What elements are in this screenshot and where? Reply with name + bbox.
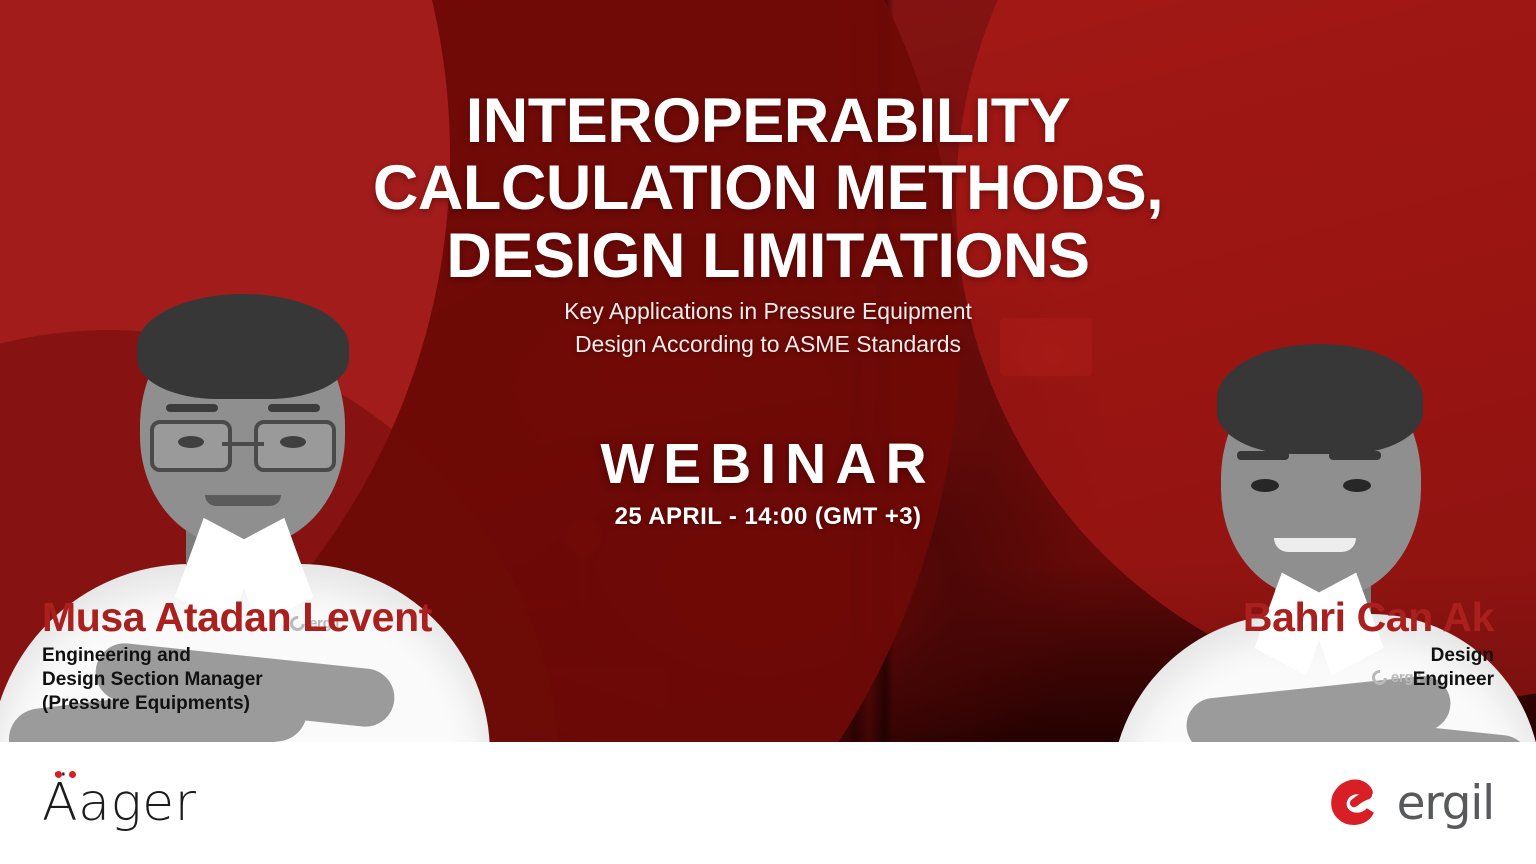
title-line-2: CALCULATION METHODS, xyxy=(0,155,1536,222)
role-line-3: (Pressure Equipments) xyxy=(42,692,432,716)
role-line-1: Engineering and xyxy=(42,644,432,668)
role-line-2: Engineer xyxy=(1243,668,1494,692)
speaker-role-left: Engineering and Design Section Manager (… xyxy=(42,644,432,716)
webinar-banner: ergil ergil INTEROPERABILITY CALCULATION… xyxy=(0,0,1536,864)
aager-logo-text: Äager xyxy=(42,773,197,833)
ergil-logo-text: ergil xyxy=(1397,776,1494,831)
ergil-swirl-icon xyxy=(1326,773,1386,833)
subtitle-line-2: Design According to ASME Standards xyxy=(0,328,1536,361)
event-datetime: 25 APRIL - 14:00 (GMT +3) xyxy=(0,503,1536,531)
umlaut-dots-icon xyxy=(55,771,76,778)
speaker-role-right: Design Engineer xyxy=(1243,644,1494,692)
event-type-label: WEBINAR xyxy=(0,431,1536,497)
title-line-3: DESIGN LIMITATIONS xyxy=(0,223,1536,290)
speaker-caption-left: Musa Atadan Levent Engineering and Desig… xyxy=(42,596,432,716)
page-title: INTEROPERABILITY CALCULATION METHODS, DE… xyxy=(0,88,1536,290)
speaker-name-left: Musa Atadan Levent xyxy=(42,596,432,639)
speaker-caption-right: Bahri Can Ak Design Engineer xyxy=(1243,596,1494,692)
role-line-2: Design Section Manager xyxy=(42,668,432,692)
subtitle-line-1: Key Applications in Pressure Equipment xyxy=(0,295,1536,328)
speaker-name-right: Bahri Can Ak xyxy=(1243,596,1494,639)
page-subtitle: Key Applications in Pressure Equipment D… xyxy=(0,295,1536,360)
title-line-1: INTEROPERABILITY xyxy=(0,88,1536,155)
ergil-logo[interactable]: ergil xyxy=(1326,773,1494,833)
aager-logo[interactable]: Äager xyxy=(42,773,197,833)
role-line-1: Design xyxy=(1243,644,1494,668)
footer-bar: Äager ergil xyxy=(0,742,1536,864)
